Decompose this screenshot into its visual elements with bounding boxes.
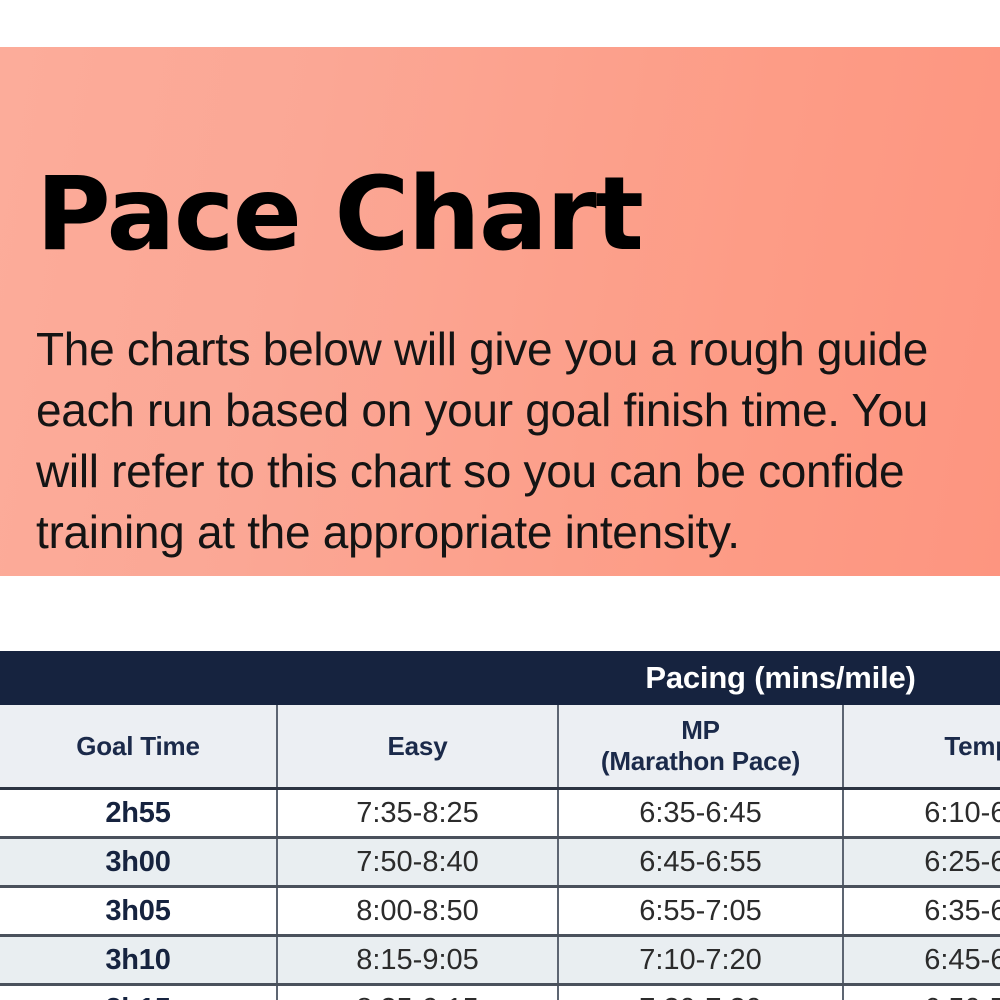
cell-mp: 7:10-7:20 [558, 936, 843, 985]
cell-mp: 6:45-6:55 [558, 838, 843, 887]
column-header-easy: Easy [277, 705, 558, 789]
hero-description-line-2: each run based on your goal finish time.… [36, 380, 928, 441]
column-header-goal-time: Goal Time [0, 705, 277, 789]
column-header-mp: MP (Marathon Pace) [558, 705, 843, 789]
cell-tempo: 6:45-6:55 [843, 936, 1000, 985]
table-row: 3h10 8:15-9:05 7:10-7:20 6:45-6:55 [0, 936, 1000, 985]
band-spacer [0, 651, 277, 705]
cell-easy: 8:25-9:15 [277, 985, 558, 1000]
hero-description-line-3: will refer to this chart so you can be c… [36, 441, 928, 502]
hero-content: Pace Chart The charts below will give yo… [36, 47, 1000, 576]
cell-tempo: 6:35-6:45 [843, 887, 1000, 936]
cell-easy: 8:15-9:05 [277, 936, 558, 985]
pace-table-body: 2h55 7:35-8:25 6:35-6:45 6:10-6:20 3h00 … [0, 789, 1000, 1000]
cell-mp: 7:20-7:30 [558, 985, 843, 1000]
cell-easy: 8:00-8:50 [277, 887, 558, 936]
pace-table: Pacing (mins/mile) Goal Time Easy MP (Ma… [0, 651, 1000, 1000]
cell-mp: 6:55-7:05 [558, 887, 843, 936]
hero-banner: Pace Chart The charts below will give yo… [0, 47, 1000, 576]
column-header-easy-label: Easy [388, 731, 448, 761]
cell-goal-time: 3h00 [0, 838, 277, 887]
table-header-row: Goal Time Easy MP (Marathon Pace) Tempo [0, 705, 1000, 789]
table-row: 3h00 7:50-8:40 6:45-6:55 6:25-6:35 [0, 838, 1000, 887]
table-row: 3h15 8:25-9:15 7:20-7:30 6:50-7:00 [0, 985, 1000, 1000]
pace-table-container: Pacing (mins/mile) Goal Time Easy MP (Ma… [0, 651, 1000, 1000]
pacing-band-label: Pacing (mins/mile) [277, 651, 1000, 705]
cell-goal-time: 2h55 [0, 789, 277, 838]
table-band-row: Pacing (mins/mile) [0, 651, 1000, 705]
cell-goal-time: 3h05 [0, 887, 277, 936]
cell-tempo: 6:25-6:35 [843, 838, 1000, 887]
pace-chart-page: Pace Chart The charts below will give yo… [0, 0, 1000, 1000]
cell-easy: 7:35-8:25 [277, 789, 558, 838]
column-header-tempo-label: Tempo [944, 731, 1000, 761]
column-header-mp-label: MP [681, 715, 720, 745]
cell-tempo: 6:10-6:20 [843, 789, 1000, 838]
hero-description: The charts below will give you a rough g… [36, 319, 928, 563]
column-header-tempo: Tempo [843, 705, 1000, 789]
cell-easy: 7:50-8:40 [277, 838, 558, 887]
table-row: 3h05 8:00-8:50 6:55-7:05 6:35-6:45 [0, 887, 1000, 936]
hero-description-line-1: The charts below will give you a rough g… [36, 319, 928, 380]
cell-goal-time: 3h10 [0, 936, 277, 985]
cell-tempo: 6:50-7:00 [843, 985, 1000, 1000]
column-header-mp-sublabel: (Marathon Pace) [565, 746, 836, 777]
column-header-goal-time-label: Goal Time [76, 731, 199, 761]
table-row: 2h55 7:35-8:25 6:35-6:45 6:10-6:20 [0, 789, 1000, 838]
page-title: Pace Chart [36, 163, 642, 267]
hero-description-line-4: training at the appropriate intensity. [36, 502, 928, 563]
cell-mp: 6:35-6:45 [558, 789, 843, 838]
cell-goal-time: 3h15 [0, 985, 277, 1000]
